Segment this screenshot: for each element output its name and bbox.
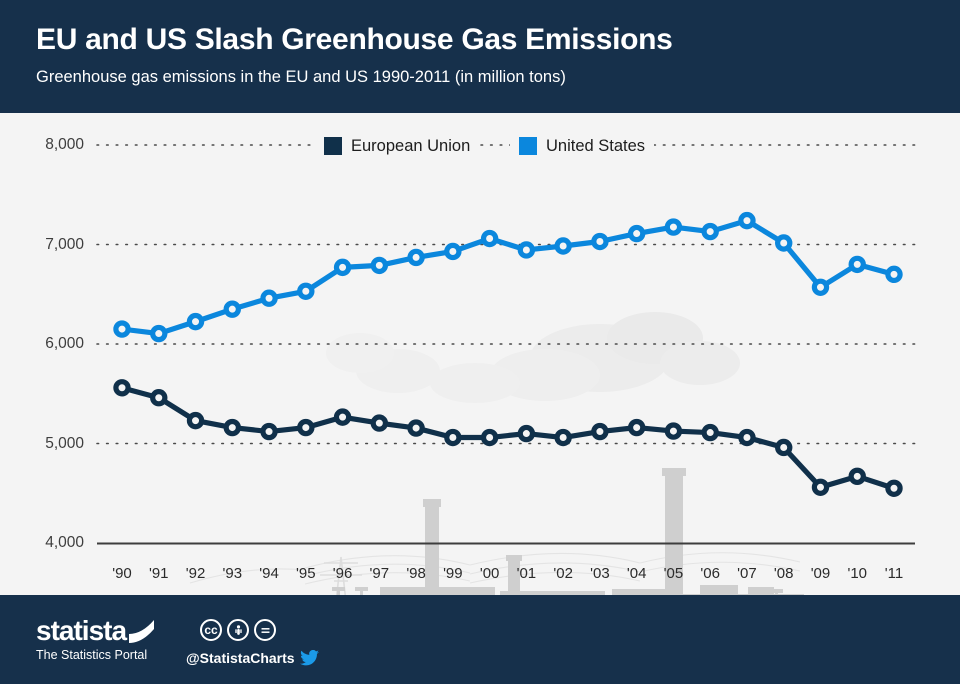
page-subtitle: Greenhouse gas emissions in the EU and U… <box>36 66 960 88</box>
data-point-marker[interactable] <box>410 251 422 263</box>
data-point-marker[interactable] <box>189 415 201 427</box>
data-point-marker[interactable] <box>704 225 716 237</box>
data-point-marker[interactable] <box>557 240 569 252</box>
gridlines <box>97 145 915 444</box>
brand-wordmark: statista <box>36 617 126 645</box>
x-axis-tick-label: '02 <box>543 565 583 583</box>
data-point-marker[interactable] <box>667 221 679 233</box>
series-markers <box>116 215 900 495</box>
series-line-eu <box>122 388 894 488</box>
data-point-marker[interactable] <box>814 281 826 293</box>
y-axis-tick-label: 5,000 <box>8 436 84 452</box>
statista-infographic: EU and US Slash Greenhouse Gas Emissions… <box>0 0 960 684</box>
data-point-marker[interactable] <box>888 482 900 494</box>
twitter-handle[interactable]: @StatistaCharts <box>186 650 319 666</box>
x-axis-tick-label: '98 <box>396 565 436 583</box>
data-point-marker[interactable] <box>778 441 790 453</box>
data-point-marker[interactable] <box>851 258 863 270</box>
data-point-marker[interactable] <box>484 232 496 244</box>
y-axis-tick-label: 8,000 <box>8 137 84 153</box>
data-point-marker[interactable] <box>153 327 165 339</box>
chart-footer: statista The Statistics Portal cc @Stati… <box>0 595 960 684</box>
cc-by-icon <box>227 619 249 641</box>
data-point-marker[interactable] <box>373 417 385 429</box>
x-axis-tick-label: '11 <box>874 565 914 583</box>
data-point-marker[interactable] <box>778 237 790 249</box>
y-axis-tick-label: 6,000 <box>8 336 84 352</box>
x-axis-tick-label: '94 <box>249 565 289 583</box>
data-point-marker[interactable] <box>373 259 385 271</box>
data-point-marker[interactable] <box>410 422 422 434</box>
x-axis-tick-label: '93 <box>212 565 252 583</box>
y-axis-tick-label: 4,000 <box>8 535 84 551</box>
data-point-marker[interactable] <box>300 421 312 433</box>
x-axis-tick-label: '09 <box>800 565 840 583</box>
x-axis-tick-label: '91 <box>139 565 179 583</box>
y-axis-tick-label: 7,000 <box>8 237 84 253</box>
data-point-marker[interactable] <box>263 292 275 304</box>
x-axis-tick-label: '96 <box>323 565 363 583</box>
x-axis-tick-label: '95 <box>286 565 326 583</box>
data-point-marker[interactable] <box>594 235 606 247</box>
data-point-marker[interactable] <box>189 316 201 328</box>
x-axis-tick-label: '00 <box>470 565 510 583</box>
x-axis-tick-label: '97 <box>359 565 399 583</box>
cc-nd-icon <box>254 619 276 641</box>
data-point-marker[interactable] <box>631 227 643 239</box>
x-axis-tick-label: '07 <box>727 565 767 583</box>
x-axis-tick-label: '08 <box>764 565 804 583</box>
data-point-marker[interactable] <box>814 481 826 493</box>
data-point-marker[interactable] <box>447 431 459 443</box>
data-point-marker[interactable] <box>263 425 275 437</box>
data-point-marker[interactable] <box>741 431 753 443</box>
x-axis-labels: '90'91'92'93'94'95'96'97'98'99'00'01'02'… <box>0 565 960 593</box>
x-axis-tick-label: '06 <box>690 565 730 583</box>
x-axis-tick-label: '04 <box>617 565 657 583</box>
data-point-marker[interactable] <box>116 382 128 394</box>
x-axis-tick-label: '03 <box>580 565 620 583</box>
data-point-marker[interactable] <box>741 215 753 227</box>
cc-icon: cc <box>200 619 222 641</box>
data-point-marker[interactable] <box>594 425 606 437</box>
x-axis-tick-label: '90 <box>102 565 142 583</box>
data-point-marker[interactable] <box>336 411 348 423</box>
data-point-marker[interactable] <box>484 431 496 443</box>
chart-header: EU and US Slash Greenhouse Gas Emissions… <box>0 0 960 113</box>
data-point-marker[interactable] <box>153 392 165 404</box>
data-point-marker[interactable] <box>300 285 312 297</box>
data-point-marker[interactable] <box>520 244 532 256</box>
statista-mark-icon <box>129 620 154 643</box>
data-point-marker[interactable] <box>226 303 238 315</box>
x-axis-tick-label: '10 <box>837 565 877 583</box>
creative-commons-icons: cc <box>200 619 281 641</box>
data-point-marker[interactable] <box>888 268 900 280</box>
twitter-handle-text: @StatistaCharts <box>186 650 295 666</box>
data-point-marker[interactable] <box>667 425 679 437</box>
page-title: EU and US Slash Greenhouse Gas Emissions <box>36 22 960 58</box>
data-point-marker[interactable] <box>447 245 459 257</box>
data-point-marker[interactable] <box>557 431 569 443</box>
data-point-marker[interactable] <box>704 426 716 438</box>
x-axis-tick-label: '05 <box>653 565 693 583</box>
x-axis-tick-label: '92 <box>176 565 216 583</box>
data-point-marker[interactable] <box>116 323 128 335</box>
brand-tagline: The Statistics Portal <box>36 648 176 662</box>
data-point-marker[interactable] <box>520 427 532 439</box>
x-axis-tick-label: '01 <box>506 565 546 583</box>
data-point-marker[interactable] <box>851 470 863 482</box>
data-point-marker[interactable] <box>226 421 238 433</box>
statista-logo[interactable]: statista The Statistics Portal <box>36 617 176 662</box>
plot-svg <box>0 113 960 595</box>
data-point-marker[interactable] <box>631 421 643 433</box>
x-axis-tick-label: '99 <box>433 565 473 583</box>
twitter-bird-icon <box>300 650 319 666</box>
chart-area: 4,0005,0006,0007,0008,000 European Union… <box>0 113 960 595</box>
data-point-marker[interactable] <box>336 261 348 273</box>
